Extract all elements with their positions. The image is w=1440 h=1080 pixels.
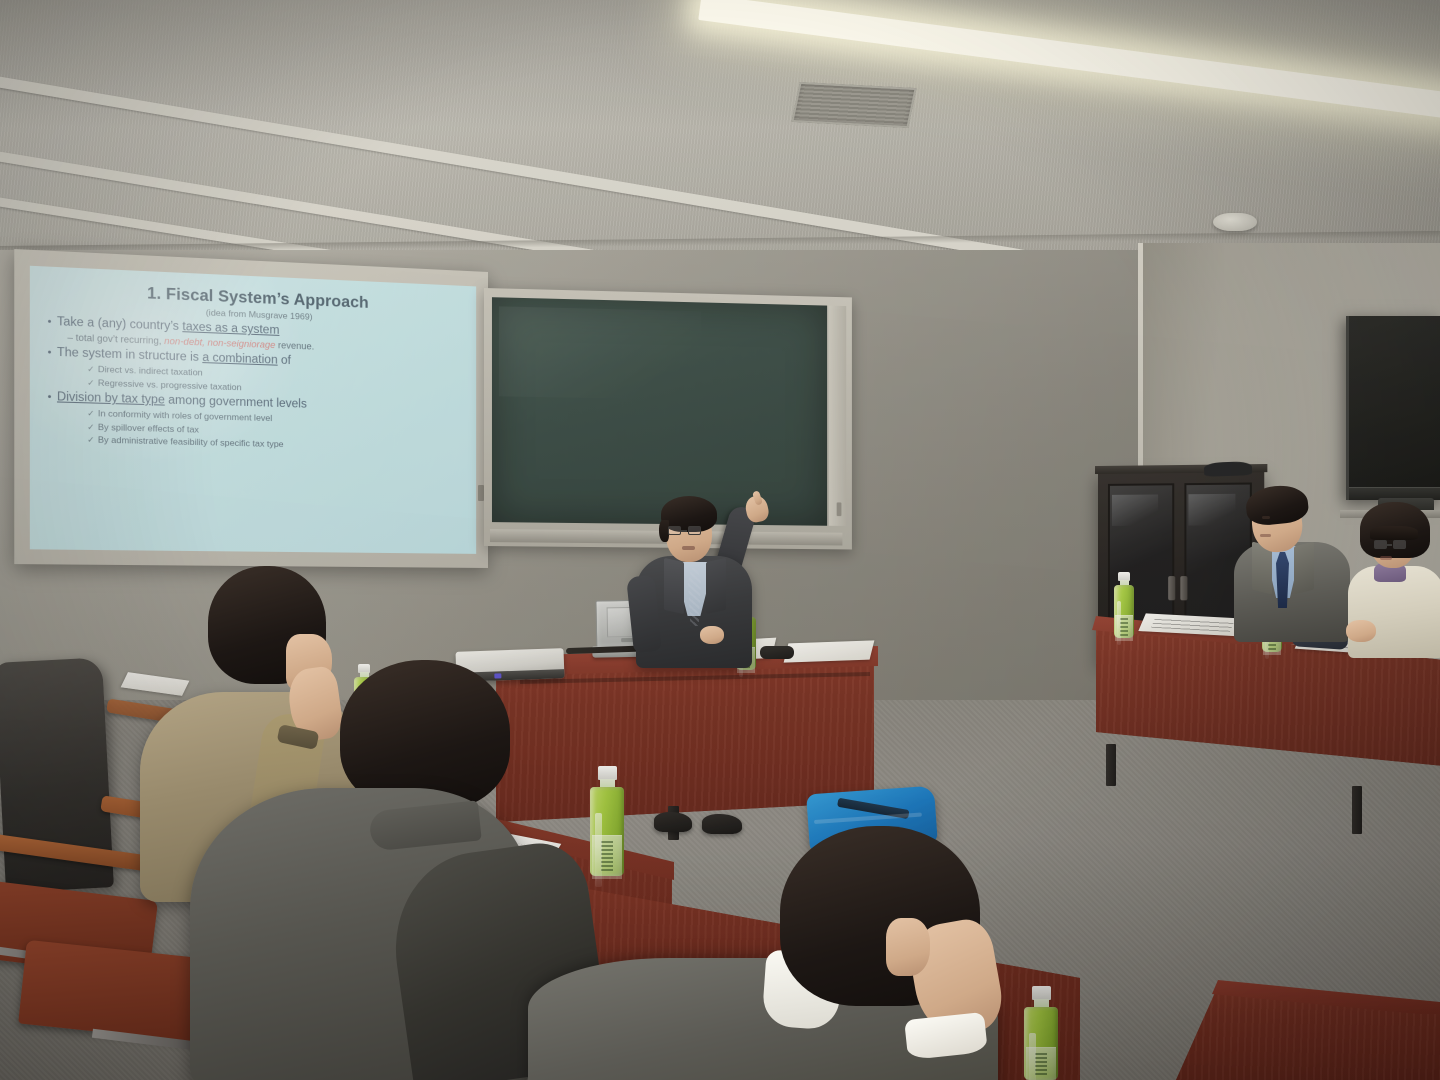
bottle-label-text xyxy=(1120,618,1128,636)
woman-mouth xyxy=(1380,556,1392,560)
seminar-room-photo: 1. Fiscal System’s Approach (idea from M… xyxy=(0,0,1440,1080)
paper-text-lines xyxy=(1151,618,1235,632)
presenter-lapel-left xyxy=(664,558,684,614)
presenter-glasses-icon xyxy=(668,526,710,538)
presenter-shoe-left xyxy=(654,812,692,832)
object-on-cabinet xyxy=(1204,461,1252,477)
attendee-mouth xyxy=(1260,534,1271,537)
side-table-leg-left xyxy=(1106,744,1116,786)
bullet-3-pre: The system in structure is xyxy=(57,347,202,365)
wall-display-screen xyxy=(1346,316,1440,500)
person-attendee-right-woman xyxy=(1348,500,1440,650)
chalkboard-side-panel xyxy=(829,306,846,526)
person-presenter xyxy=(612,484,802,674)
bottle-cap xyxy=(598,766,617,780)
person-attendee-foreground xyxy=(528,830,1028,1080)
presenter-resting-hand xyxy=(700,626,724,644)
glasses-bridge xyxy=(681,530,687,532)
attendee-lapel-right xyxy=(1294,542,1314,595)
projection-surface: 1. Fiscal System’s Approach (idea from M… xyxy=(30,266,476,554)
bullet-4-post: among government levels xyxy=(165,394,307,411)
chalkboard-sheen xyxy=(499,306,702,400)
attendee-eye xyxy=(1262,516,1270,519)
bottle-body xyxy=(1114,585,1134,638)
presenter-lapel-right xyxy=(706,558,726,614)
bullet-2-dash: – total gov’t recurring, xyxy=(67,332,164,346)
woman-glasses-icon xyxy=(1374,540,1414,551)
bullet-3-underline: a combination xyxy=(202,352,277,367)
glasses-lens-right xyxy=(688,526,701,535)
smoke-detector-icon xyxy=(1213,213,1257,231)
bottle-highlight xyxy=(1117,601,1121,645)
drink-bottle-bottom-right[interactable] xyxy=(1024,986,1058,1080)
ceiling-vent-icon xyxy=(791,82,916,128)
side-table-leg-right xyxy=(1352,786,1362,834)
foreground-ear-and-neck xyxy=(886,918,930,976)
bottle-highlight xyxy=(1029,1033,1036,1080)
bottle-cap xyxy=(1032,986,1051,1000)
glasses-bridge xyxy=(1386,544,1392,546)
woman-bangs xyxy=(1370,526,1418,540)
bullet-2-highlight: non-debt, non-seigniorage xyxy=(164,336,275,351)
glasses-lens-right xyxy=(1393,540,1406,549)
presentation-slide: 1. Fiscal System’s Approach (idea from M… xyxy=(30,266,476,554)
cabinet-handle-right[interactable] xyxy=(1180,576,1187,600)
bullet-4-underline: Division by tax type xyxy=(57,391,165,407)
bullet-3-post: of xyxy=(278,355,291,368)
bullet-1-pre: Take a (any) country’s xyxy=(57,316,182,334)
cabinet-handle-left[interactable] xyxy=(1168,576,1175,600)
woman-hand xyxy=(1346,620,1376,642)
bottle-label-text xyxy=(1035,1051,1047,1075)
glass-reflection xyxy=(1188,494,1235,526)
drink-bottle-side-1[interactable] xyxy=(1114,572,1134,638)
bottle-body xyxy=(1024,1007,1058,1080)
bullet-2-tail: revenue. xyxy=(275,340,314,352)
glass-reflection xyxy=(1112,495,1158,526)
person-attendee-right-suit xyxy=(1232,486,1352,636)
attendee-tie xyxy=(1276,552,1289,608)
glasses-lens-left xyxy=(668,526,681,535)
presenter-tie xyxy=(688,568,701,626)
chalkboard-latch xyxy=(837,502,842,516)
projection-screen: 1. Fiscal System’s Approach (idea from M… xyxy=(14,249,488,568)
presenter-mouth xyxy=(682,546,695,550)
bullet-1-underline: taxes as a system xyxy=(182,321,279,337)
